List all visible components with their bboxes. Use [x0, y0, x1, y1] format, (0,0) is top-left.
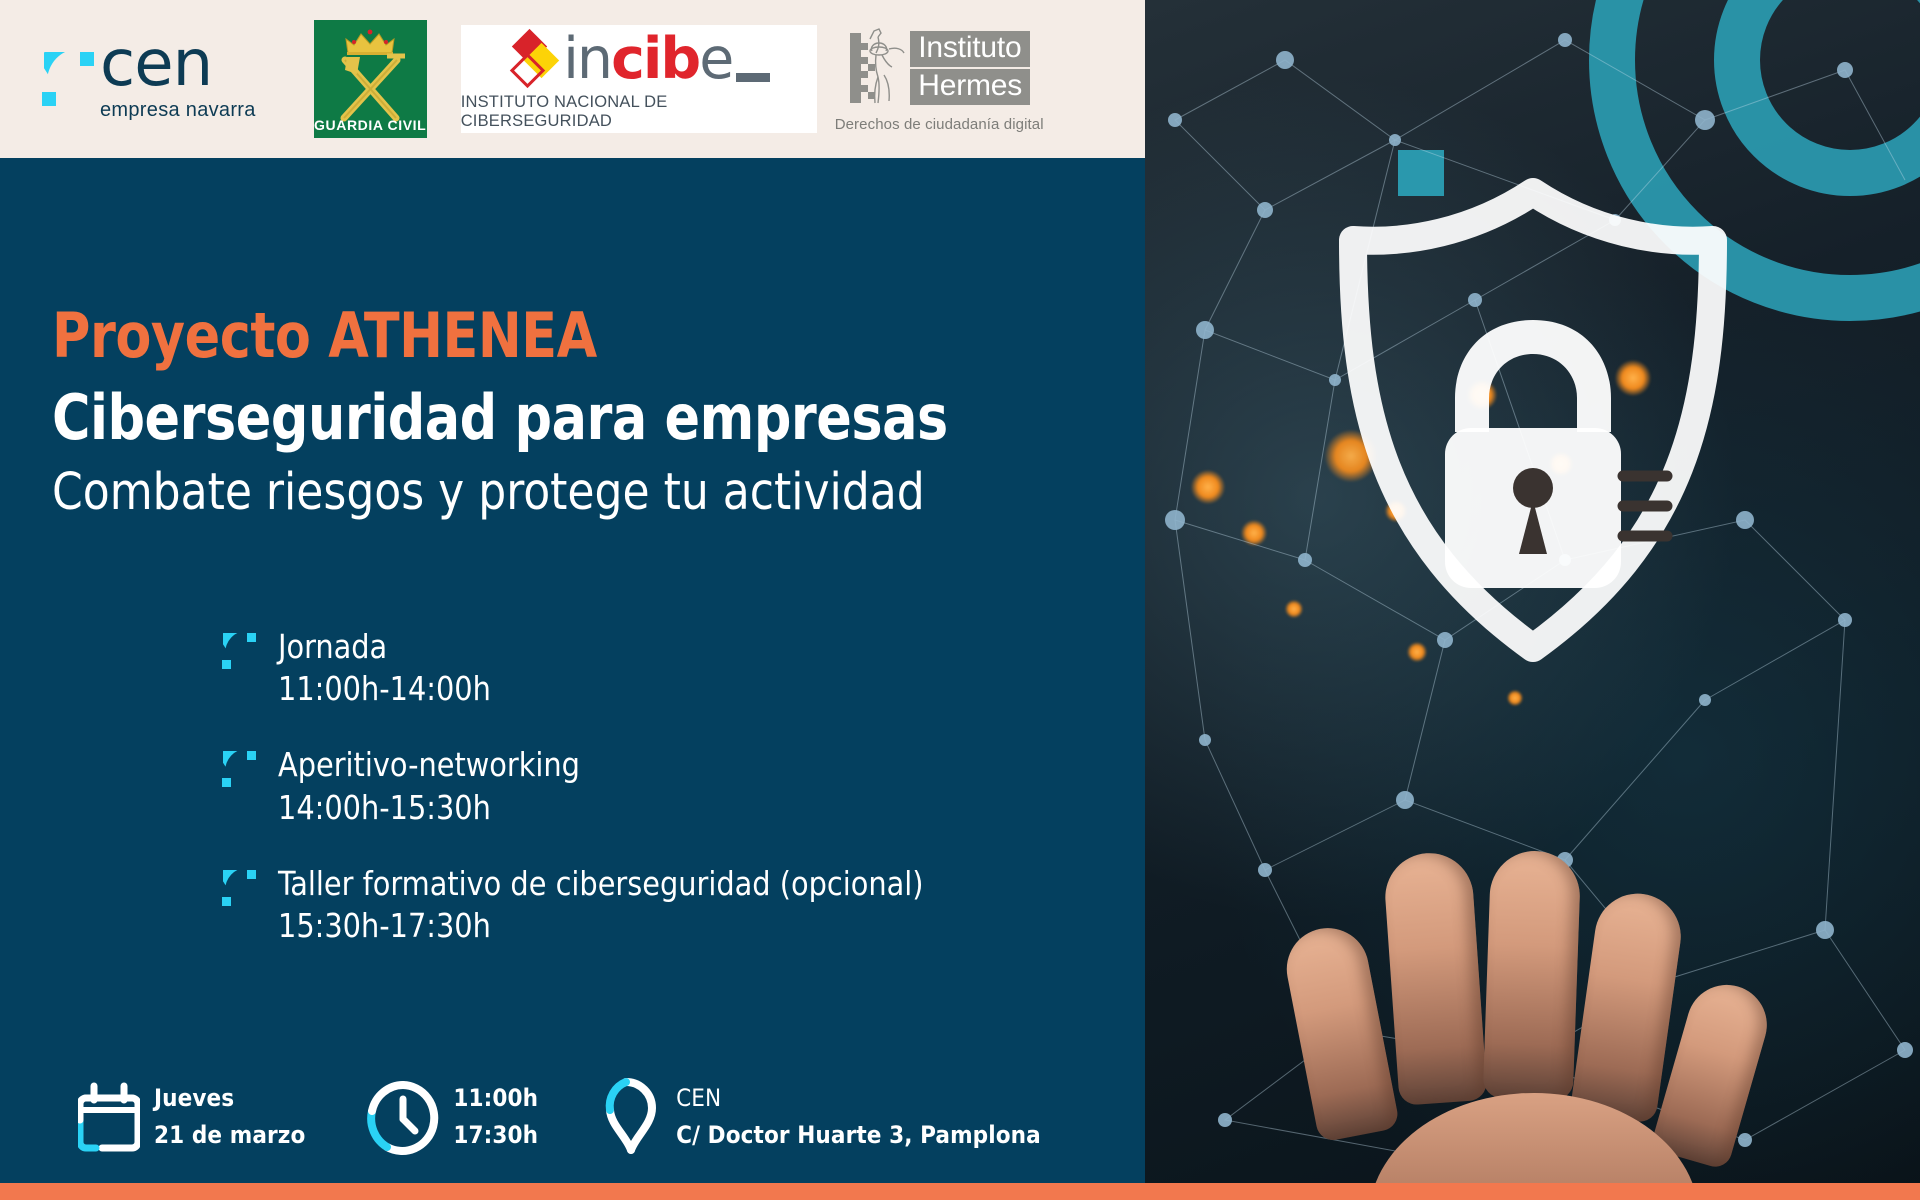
cen-bullet-icon	[222, 869, 256, 907]
clock-icon	[367, 1079, 439, 1155]
hero-titles: Proyecto ATHENEA Ciberseguridad para emp…	[52, 303, 1082, 523]
hermes-subtitle: Derechos de ciudadanía digital	[835, 116, 1044, 133]
event-meta-row: Jueves 21 de marzo 11:00h 17:30h	[78, 1076, 1041, 1158]
bottom-accent-bar	[0, 1183, 1920, 1200]
cen-logo-tagline: empresa navarra	[100, 100, 256, 120]
location-pin-icon	[600, 1076, 662, 1158]
agenda-item-time: 15:30h-17:30h	[278, 905, 923, 947]
list-item: Jornada 11:00h-14:00h	[222, 626, 943, 710]
cen-swoosh-mark-icon	[42, 50, 94, 108]
main-content-panel: Proyecto ATHENEA Ciberseguridad para emp…	[0, 158, 1145, 1184]
cen-logo: cen empresa navarra	[42, 38, 256, 119]
instituto-hermes-logo: Instituto Hermes Derechos de ciudadanía …	[835, 25, 1044, 133]
list-item: Taller formativo de ciberseguridad (opci…	[222, 863, 943, 947]
event-poster: cen empresa navarra	[0, 0, 1920, 1200]
hermes-title-line-2: Hermes	[910, 69, 1030, 105]
hermes-statue-icon	[848, 25, 906, 111]
calendar-icon	[78, 1082, 140, 1152]
guardia-civil-logo: GUARDIA CIVIL	[314, 20, 427, 138]
guardia-civil-label: GUARDIA CIVIL	[314, 117, 427, 133]
event-time-start: 11:00h	[453, 1080, 538, 1117]
event-time-end: 17:30h	[453, 1117, 538, 1154]
shield-padlock-graphic	[1323, 170, 1743, 670]
project-title: Proyecto ATHENEA	[52, 303, 1020, 370]
hermes-title-line-1: Instituto	[910, 31, 1030, 67]
event-location-address: C/ Doctor Huarte 3, Pamplona	[676, 1117, 1041, 1154]
cen-bullet-icon	[222, 750, 256, 788]
incibe-word-cib: cib	[611, 26, 699, 92]
incibe-word-in: in	[563, 26, 611, 92]
agenda-item-time: 14:00h-15:30h	[278, 787, 580, 829]
event-location-name: CEN	[676, 1080, 1041, 1117]
incibe-subtitle: INSTITUTO NACIONAL DE CIBERSEGURIDAD	[461, 93, 817, 131]
event-location-block: CEN C/ Doctor Huarte 3, Pamplona	[600, 1076, 1041, 1158]
subheadline: Combate riesgos y protege tu actividad	[52, 464, 1041, 523]
cen-logo-name: cen	[100, 38, 256, 90]
hand-illustration	[1273, 743, 1793, 1183]
hero-photo	[1145, 0, 1920, 1183]
list-item: Aperitivo-networking 14:00h-15:30h	[222, 744, 943, 828]
shield-icon	[1323, 170, 1743, 670]
cen-bullet-icon	[222, 632, 256, 670]
agenda-item-label: Jornada	[278, 626, 491, 668]
padlock-icon	[1445, 320, 1621, 588]
incibe-logo: incibe INSTITUTO NACIONAL DE CIBERSEGURI…	[461, 25, 817, 133]
sponsor-logo-bar: cen empresa navarra	[0, 0, 1145, 158]
event-date-weekday: Jueves	[154, 1080, 305, 1117]
agenda-item-time: 11:00h-14:00h	[278, 668, 491, 710]
headline: Ciberseguridad para empresas	[52, 383, 1020, 452]
incibe-diamond-mark-icon	[507, 28, 559, 90]
event-date-day: 21 de marzo	[154, 1117, 305, 1154]
incibe-word-e: e	[699, 26, 732, 92]
incibe-underscore-icon	[736, 73, 770, 82]
event-time-block: 11:00h 17:30h	[367, 1079, 538, 1155]
agenda-item-label: Aperitivo-networking	[278, 744, 580, 786]
agenda-list: Jornada 11:00h-14:00h Aperitivo-networki…	[222, 626, 943, 947]
agenda-item-label: Taller formativo de ciberseguridad (opci…	[278, 863, 923, 905]
event-date-block: Jueves 21 de marzo	[78, 1080, 305, 1154]
